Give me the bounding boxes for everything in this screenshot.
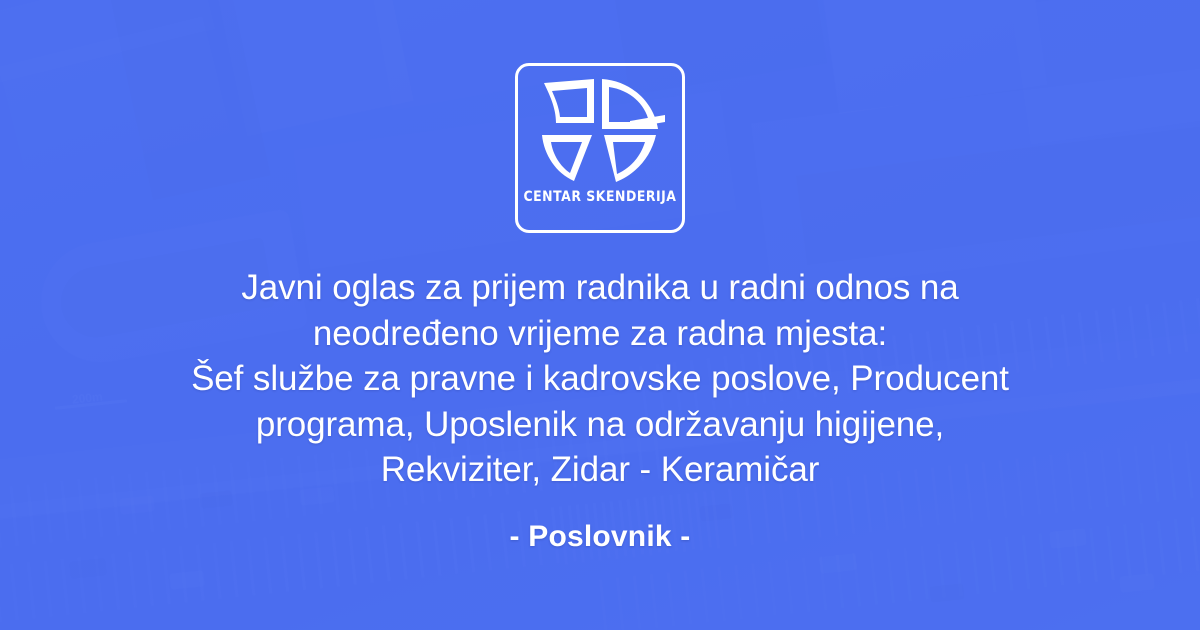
headline-line-4: programa, Uposlenik na održavanju higije… — [110, 402, 1090, 448]
logo-badge: CENTAR SKENDERIJA — [515, 63, 685, 233]
headline-line-1: Javni oglas za prijem radnika u radni od… — [110, 265, 1090, 311]
announcement-headline: Javni oglas za prijem radnika u radni od… — [110, 265, 1090, 493]
source-label: - Poslovnik - — [510, 520, 691, 554]
headline-line-5: Rekviziter, Zidar - Keramičar — [110, 447, 1090, 493]
headline-line-3: Šef službe za pravne i kadrovske poslove… — [110, 356, 1090, 402]
logo-wordmark: CENTAR SKENDERIJA — [524, 189, 677, 205]
headline-line-2: neodređeno vrijeme za radna mjesta: — [110, 311, 1090, 357]
card-content: CENTAR SKENDERIJA Javni oglas za prijem … — [0, 0, 1200, 630]
centar-skenderija-emblem-icon — [534, 77, 666, 187]
